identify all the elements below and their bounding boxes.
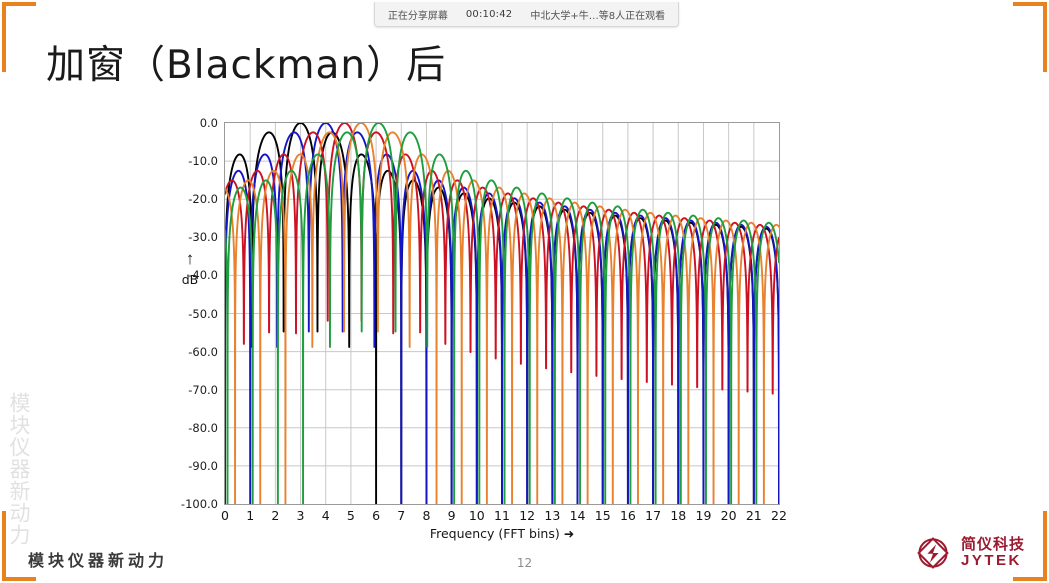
share-status-text: 正在分享屏幕	[388, 7, 448, 22]
x-tick-label: 6	[372, 508, 380, 523]
plot-area	[224, 122, 780, 505]
x-tick-label: 22	[771, 508, 787, 523]
x-tick-label: 20	[721, 508, 737, 523]
y-tick-label: -50.0	[188, 307, 218, 321]
spectrum-chart: ↑ dB 0.0-10.0-20.0-30.0-40.0-50.0-60.0-7…	[160, 108, 800, 533]
x-tick-label: 17	[645, 508, 661, 523]
share-timer: 00:10:42	[466, 9, 513, 20]
x-tick-label: 16	[620, 508, 636, 523]
brand-name-en: JYTEK	[961, 553, 1025, 569]
y-tick-label: -70.0	[188, 383, 218, 397]
corner-accent-top-right	[1013, 2, 1047, 72]
plot-svg	[225, 123, 779, 504]
y-tick-label: 0.0	[200, 116, 218, 130]
brand-name-cn: 简仪科技	[961, 537, 1025, 553]
x-tick-label: 10	[469, 508, 485, 523]
jytek-logo-icon	[913, 533, 953, 573]
y-tick-label: -80.0	[188, 421, 218, 435]
x-tick-label: 1	[246, 508, 254, 523]
x-tick-label: 11	[494, 508, 510, 523]
share-viewers-text: 中北大学+牛…等8人正在观看	[530, 7, 665, 22]
screen-share-status-bar[interactable]: 正在分享屏幕 00:10:42 中北大学+牛…等8人正在观看	[374, 2, 679, 27]
x-axis-label: Frequency (FFT bins) ➜	[224, 526, 780, 541]
x-tick-label: 8	[422, 508, 430, 523]
corner-accent-top-left	[2, 2, 36, 72]
y-tick-label: -100.0	[181, 497, 218, 511]
y-tick-label: -60.0	[188, 345, 218, 359]
y-tick-label: -20.0	[188, 192, 218, 206]
x-axis-ticks: 012345678910111213141516171819202122	[224, 508, 780, 528]
x-tick-label: 19	[696, 508, 712, 523]
y-tick-label: -10.0	[188, 154, 218, 168]
x-tick-label: 13	[544, 508, 560, 523]
x-tick-label: 7	[397, 508, 405, 523]
y-axis-ticks: 0.0-10.0-20.0-30.0-40.0-50.0-60.0-70.0-8…	[160, 122, 218, 505]
x-tick-label: 0	[221, 508, 229, 523]
x-tick-label: 14	[570, 508, 586, 523]
brand-logo: 简仪科技 JYTEK	[913, 533, 1025, 573]
x-tick-label: 3	[297, 508, 305, 523]
x-tick-label: 4	[322, 508, 330, 523]
page-title: 加窗（Blackman）后	[46, 34, 446, 90]
x-tick-label: 2	[271, 508, 279, 523]
page-number: 12	[0, 556, 1049, 570]
x-tick-label: 15	[595, 508, 611, 523]
x-tick-label: 12	[519, 508, 535, 523]
slide-canvas: 正在分享屏幕 00:10:42 中北大学+牛…等8人正在观看 加窗（Blackm…	[0, 0, 1049, 583]
watermark-left: 模块仪器新动力	[2, 392, 30, 546]
x-tick-label: 21	[746, 508, 762, 523]
x-tick-label: 18	[670, 508, 686, 523]
y-tick-label: -30.0	[188, 230, 218, 244]
x-tick-label: 9	[448, 508, 456, 523]
y-tick-label: -90.0	[188, 459, 218, 473]
x-tick-label: 5	[347, 508, 355, 523]
y-tick-label: -40.0	[188, 268, 218, 282]
